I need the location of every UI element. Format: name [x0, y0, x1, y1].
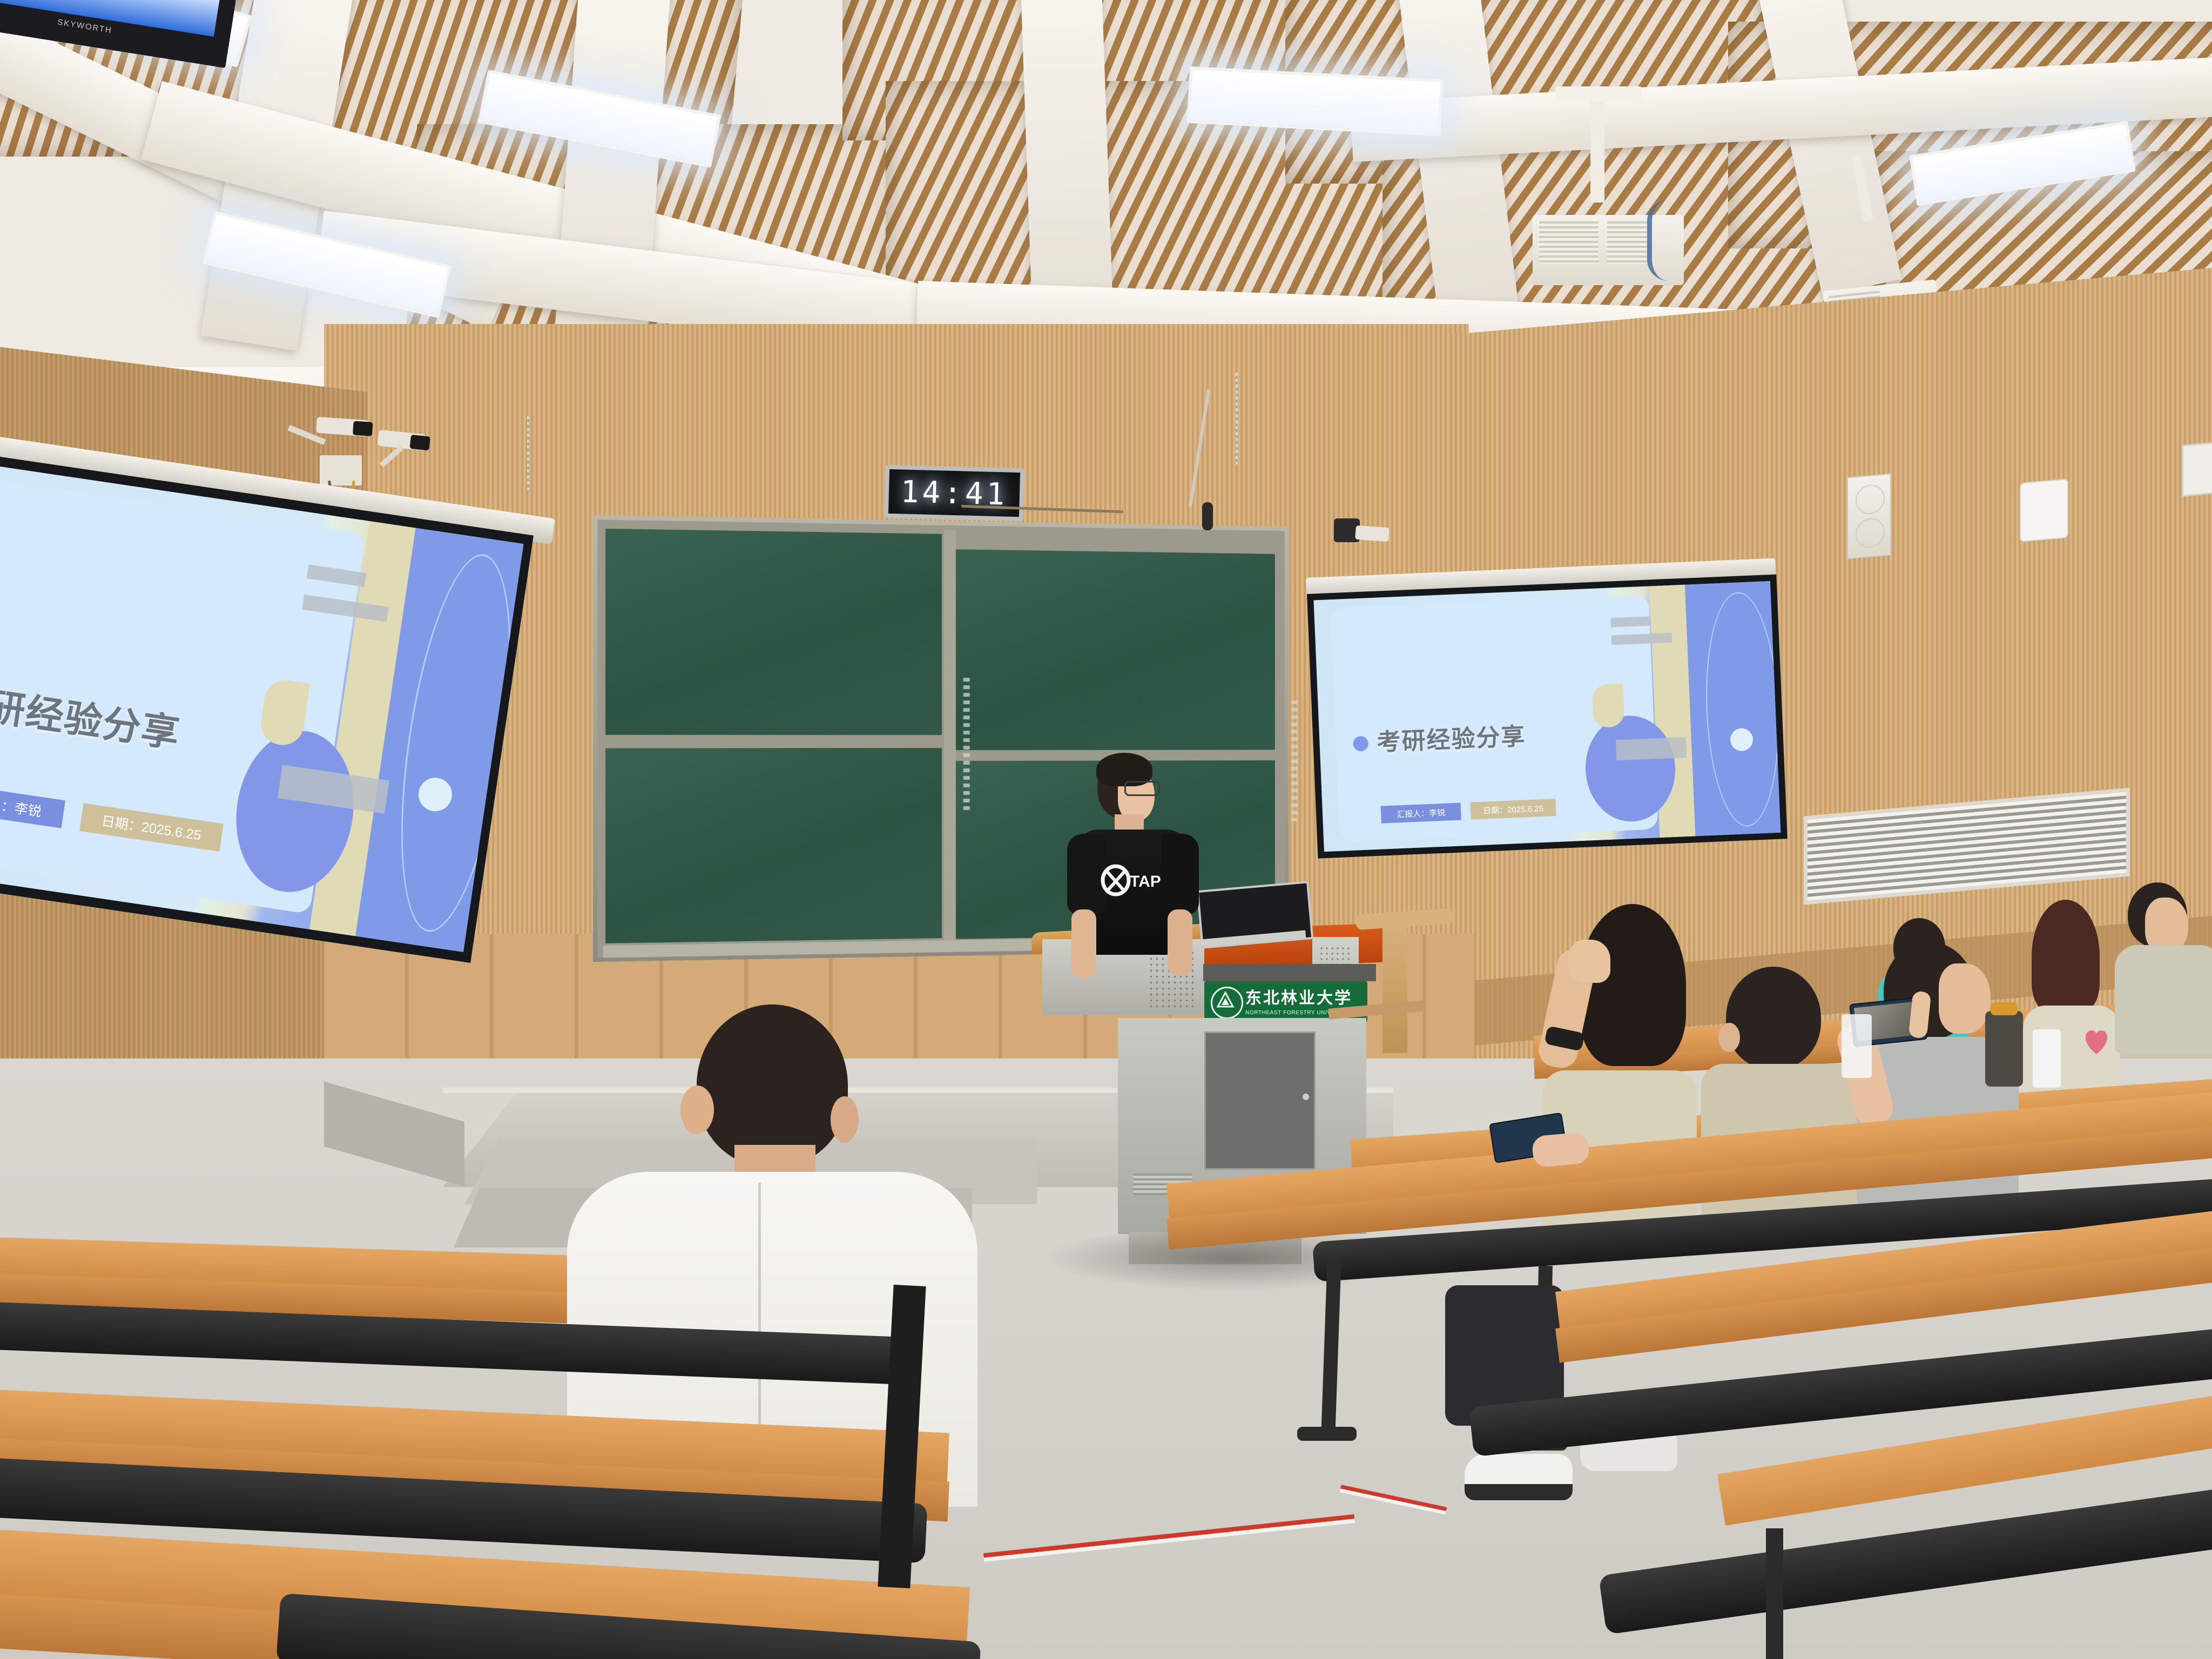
projector-mount-plate	[1555, 86, 1642, 102]
slide-leaf-shape	[1592, 684, 1625, 728]
blackboard-panel	[955, 549, 1275, 750]
shirt-heart-print	[2081, 1027, 2112, 1055]
blackboard-panel	[605, 748, 942, 943]
water-bottle	[2033, 1029, 2061, 1088]
wall-mounted-tray	[2182, 441, 2212, 497]
stage-handrail	[1382, 918, 1407, 1053]
podium-equipment-door	[1204, 1031, 1316, 1170]
presenter-arm-left	[1071, 909, 1096, 977]
presenter-arm-right	[1168, 909, 1192, 975]
podium-dark-band	[1203, 964, 1376, 981]
left-screen-slide: 考研经验分享 汇报人：李锐 日期：2025.6.25	[0, 458, 524, 952]
right-screen-assembly: 考研经验分享 汇报人：李锐 日期：2025.6.25	[1307, 575, 1788, 859]
ceiling-hanging-chain	[1236, 373, 1238, 464]
water-bottle	[1842, 1014, 1872, 1078]
blackboard-panel	[605, 529, 942, 735]
right-screen-slide: 考研经验分享 汇报人：李锐 日期：2025.6.25	[1313, 581, 1781, 852]
student-hand	[1568, 940, 1610, 983]
long-hair	[2032, 900, 2100, 1013]
presenter-shirt-print: TAP	[1098, 861, 1174, 900]
hanging-microphone	[1202, 502, 1213, 530]
thermos-bottle	[1985, 1011, 2023, 1087]
student-ear	[680, 1085, 714, 1134]
ceiling-hanging-chain	[527, 416, 529, 491]
student-ear	[831, 1096, 859, 1143]
wifi-access-point	[2020, 478, 2068, 542]
svg-text:TAP: TAP	[1130, 873, 1161, 891]
projector-cable-bundle	[1647, 200, 1690, 281]
security-camera-3	[1355, 525, 1390, 542]
university-logo-icon	[1211, 987, 1243, 1019]
wall-speaker	[1847, 473, 1891, 559]
lecture-hall-photo: SKYWORTH 考研经验分享 汇报人：李锐 日期：2025.	[0, 0, 2212, 1659]
slide-date-tag: 日期：2025.6.25	[1470, 799, 1556, 820]
plaque-name-cn: 东北林业大学	[1245, 984, 1352, 1008]
camera-junction-box	[320, 455, 362, 485]
board-track-label	[963, 678, 970, 813]
student-hair-long	[1579, 904, 1686, 1066]
hand-holding-phone	[1532, 1132, 1590, 1168]
corner-tv-brand-label: SKYWORTH	[57, 17, 113, 35]
desk-leg	[1766, 1528, 1783, 1659]
left-screen-assembly: 考研经验分享 汇报人：李锐 日期：2025.6.25	[0, 447, 534, 963]
student-shoe-sole	[1465, 1484, 1573, 1500]
student-head	[697, 1004, 848, 1166]
slide-bar	[1610, 616, 1651, 627]
board-track-label	[1291, 700, 1297, 821]
wall-digital-clock: 14:41	[884, 465, 1024, 522]
projector-mount-pole	[1590, 95, 1604, 203]
presenter-glasses	[1124, 781, 1160, 796]
desk-leg-foot	[1297, 1427, 1357, 1441]
slide-title: 考研经验分享	[1376, 717, 1526, 758]
blackboard-divider	[944, 530, 956, 948]
podium-door-lock	[1303, 1094, 1309, 1100]
slide-bar-over-blob	[1616, 737, 1687, 760]
student-ear	[1718, 1023, 1740, 1052]
slide-presenter-tag: 汇报人：李锐	[1381, 802, 1461, 823]
